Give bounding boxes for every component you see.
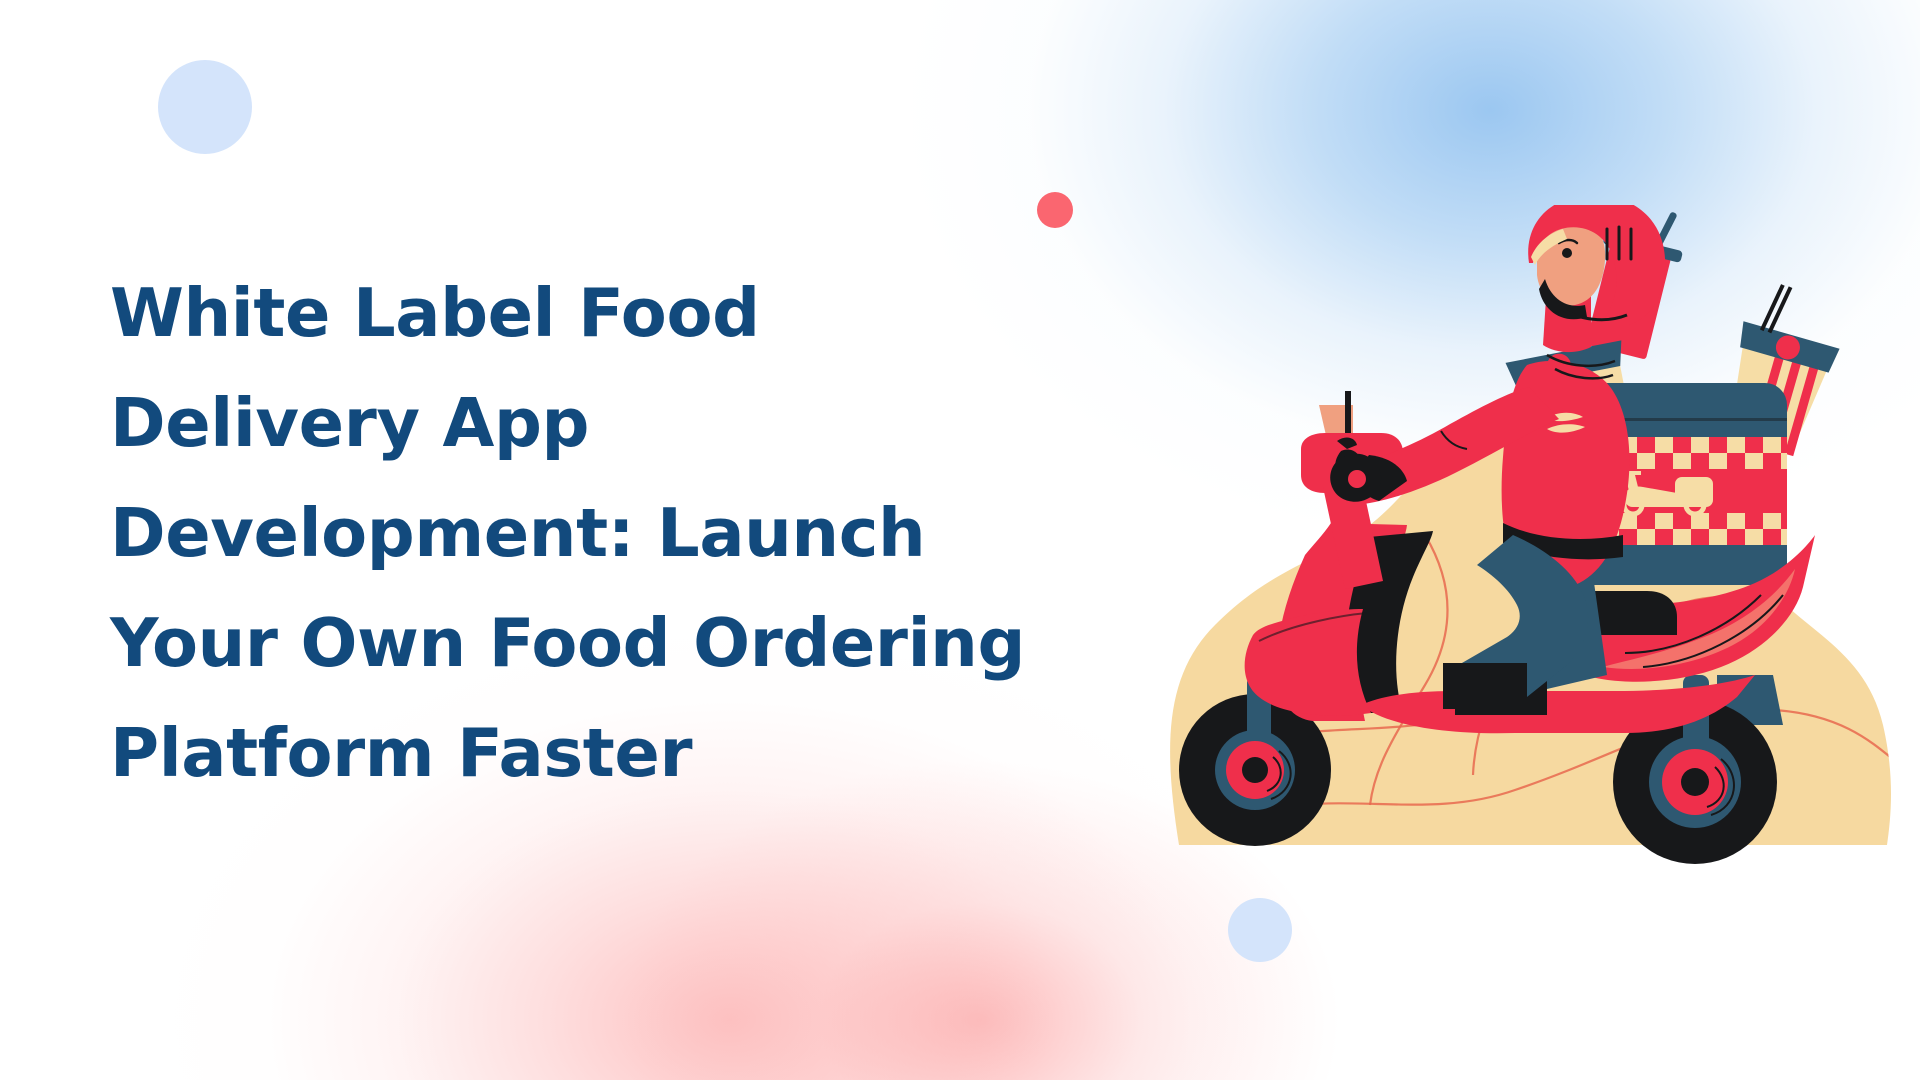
headline-line-3: Development: Launch <box>110 478 1170 588</box>
decorative-blue-circle-small <box>1228 898 1292 962</box>
decorative-blue-circle-large <box>158 60 252 154</box>
headline-line-4: Your Own Food Ordering <box>110 588 1170 698</box>
delivery-rider-illustration <box>1155 205 1915 895</box>
decorative-red-circle-small <box>1037 192 1073 228</box>
hero-banner: White Label Food Delivery App Developmen… <box>0 0 1920 1080</box>
page-title: White Label Food Delivery App Developmen… <box>110 258 1170 808</box>
delivery-rider-svg <box>1155 205 1915 895</box>
headline-line-1: White Label Food <box>110 258 1170 368</box>
headline-line-5: Platform Faster <box>110 698 1170 808</box>
headline-line-2: Delivery App <box>110 368 1170 478</box>
